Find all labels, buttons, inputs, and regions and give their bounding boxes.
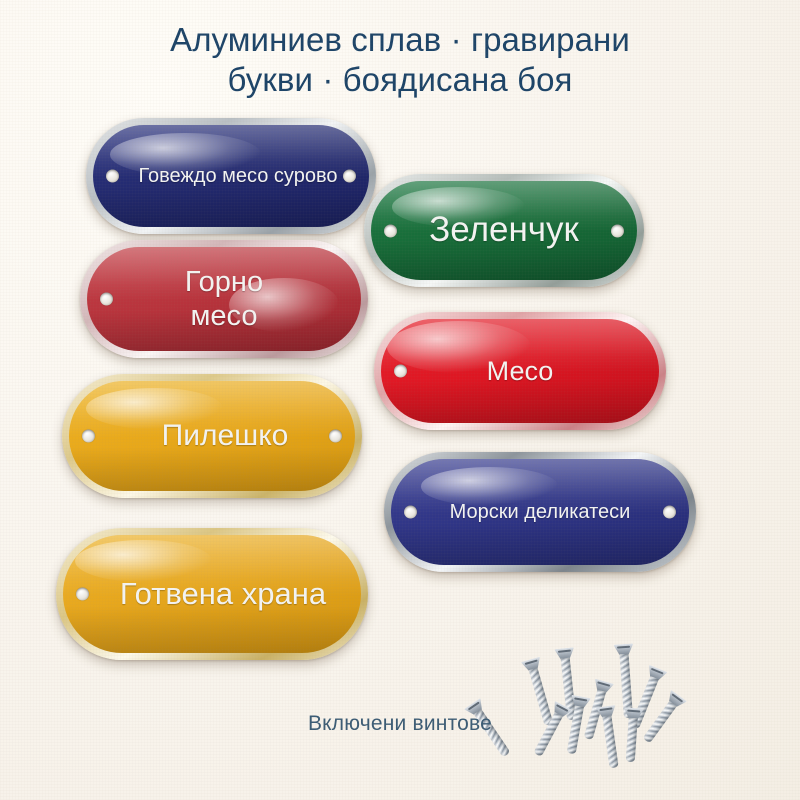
- page-title: Алуминиев сплав · гравирани букви · бояд…: [0, 20, 800, 100]
- tag-seafood[interactable]: Морски деликатеси: [384, 452, 696, 572]
- tag-label: Месо: [487, 357, 554, 385]
- mounting-hole-right: [611, 224, 624, 237]
- tag-label: Говеждо месо сурово: [125, 166, 338, 187]
- tag-beef-raw[interactable]: Говеждо месо сурово: [86, 118, 376, 234]
- tag-cooked-food[interactable]: Готвена храна: [56, 528, 368, 660]
- tag-vegetables[interactable]: Зеленчук: [364, 174, 644, 287]
- mounting-hole-left: [82, 430, 95, 443]
- mounting-hole-left: [76, 588, 89, 601]
- mounting-hole-left: [384, 224, 397, 237]
- mounting-hole-left: [394, 365, 407, 378]
- tag-chicken[interactable]: Пилешко: [62, 374, 362, 498]
- tag-top-meat[interactable]: Горно месо: [80, 240, 368, 358]
- mounting-hole-left: [106, 170, 119, 183]
- tag-label: Горно месо: [185, 265, 263, 333]
- footnote-screws-included: Включени винтове: [0, 712, 800, 736]
- mounting-hole-left: [404, 506, 417, 519]
- tag-label: Морски деликатеси: [450, 502, 631, 523]
- mounting-hole-right: [329, 430, 342, 443]
- tag-label: Пилешко: [136, 420, 289, 452]
- tag-label: Зеленчук: [429, 212, 579, 249]
- tag-meat[interactable]: Месо: [374, 312, 666, 430]
- mounting-hole-right: [663, 506, 676, 519]
- screw-pile: [466, 636, 682, 782]
- gloss-highlight: [421, 467, 558, 505]
- tag-label: Готвена храна: [98, 578, 326, 611]
- product-photo-scene: Алуминиев сплав · гравирани букви · бояд…: [0, 0, 800, 800]
- mounting-hole-right: [343, 170, 356, 183]
- mounting-hole-left: [100, 293, 113, 306]
